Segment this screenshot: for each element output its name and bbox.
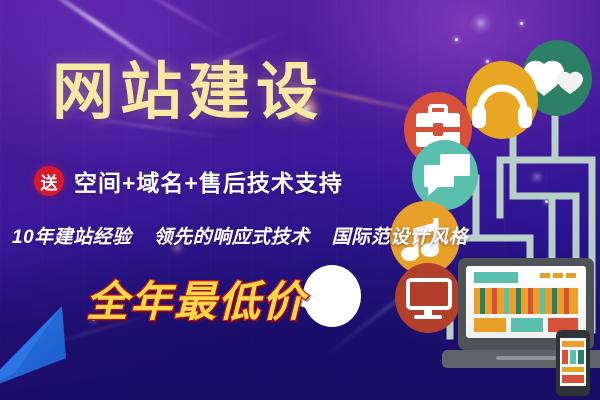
- feature-list: 10年建站经验 领先的响应式技术 国际范设计风格: [12, 222, 468, 249]
- gift-offer-row: 送 空间+域名+售后技术支持: [34, 164, 343, 198]
- feature-item: 10年建站经验: [12, 222, 132, 249]
- gift-badge: 送: [34, 166, 64, 196]
- feature-item: 领先的响应式技术: [154, 222, 310, 249]
- feature-item: 国际范设计风格: [332, 222, 469, 249]
- icon-circle-monitor: [395, 263, 461, 333]
- price-slogan: 全年最低价: [86, 268, 306, 329]
- icon-circle-chat: [412, 140, 478, 210]
- icon-circle-headphones: [466, 61, 538, 139]
- promo-banner: 网站建设 送 空间+域名+售后技术支持 10年建站经验 领先的响应式技术 国际范…: [0, 0, 600, 400]
- right-illustration: [380, 0, 600, 400]
- light-streak-icon: [105, 0, 236, 46]
- page-title: 网站建设: [52, 62, 324, 124]
- smartphone-illustration: [556, 330, 590, 396]
- gift-offer-text: 空间+域名+售后技术支持: [74, 164, 343, 198]
